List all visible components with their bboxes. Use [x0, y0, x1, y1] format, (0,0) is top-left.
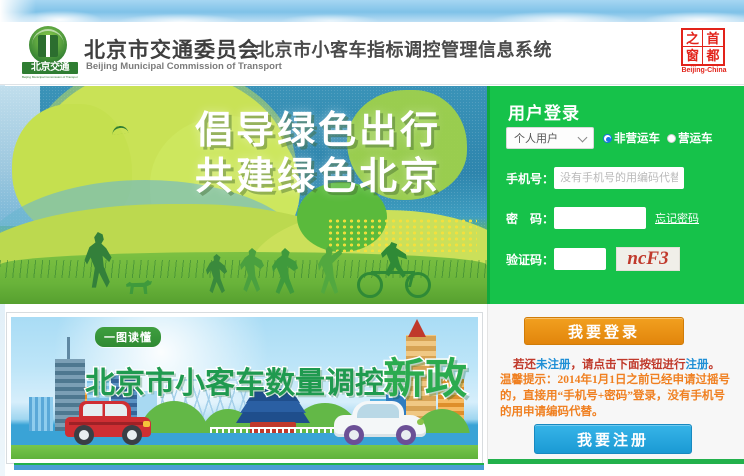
notice-middle: ，请点击下面按钮进行	[571, 359, 686, 371]
captcha-input[interactable]	[554, 248, 606, 270]
forgot-password-link[interactable]: 忘记密码	[655, 210, 699, 226]
radio-label-operating: 营运车	[678, 130, 713, 146]
red-car-headlight	[143, 421, 150, 427]
user-type-selected-value: 个人用户	[514, 130, 558, 146]
login-panel-title: 用户登录	[508, 99, 580, 124]
promo-grass-strip	[11, 445, 478, 459]
radio-dot-unselected	[667, 134, 676, 143]
sky-fade	[0, 0, 36, 22]
white-car-wheel-right	[396, 425, 416, 445]
sky-banner-decoration	[0, 0, 744, 22]
white-car-taillight	[417, 419, 424, 425]
registration-notice: 若还未注册，请点击下面按钮进行注册。	[488, 356, 744, 372]
logo-badge-label: 北京交通	[22, 62, 78, 74]
promo-title: 北京市小客车数量调控 新政	[85, 345, 467, 406]
gov-logo-grid: 之 首 窗 都	[681, 28, 725, 66]
vehicle-use-radio-group: 非营运车 营运车	[603, 130, 713, 146]
hero-banner[interactable]: 倡导绿色出行 共建绿色北京	[0, 86, 487, 304]
organization-name-en: Beijing Municipal Commission of Transpor…	[86, 61, 282, 72]
phone-label: 手机号：	[506, 170, 554, 187]
password-input[interactable]	[554, 207, 646, 229]
promo-badge: 一图读懂	[95, 327, 161, 347]
page-title: 北京市小客车指标调控管理信息系统	[256, 36, 552, 62]
radio-non-operating-vehicle[interactable]: 非营运车	[603, 130, 660, 146]
logo-badge-sublabel: Beijing Municipal Commission of Transpor…	[22, 75, 78, 79]
white-car-window	[357, 404, 399, 418]
gov-logo-cell-1: 之	[683, 30, 703, 47]
white-car-wheel-left	[344, 425, 364, 445]
promo-title-accent: 新政	[383, 345, 467, 406]
radio-operating-vehicle[interactable]: 营运车	[667, 130, 713, 146]
login-actions-panel: 我要登录 若还未注册，请点击下面按钮进行注册。 温馨提示：2014年1月1日之前…	[487, 304, 744, 464]
gov-logo-cell-2: 首	[703, 30, 723, 47]
cyclist-silhouette	[357, 240, 431, 298]
user-type-select[interactable]: 个人用户	[506, 127, 594, 149]
hero-slogan-line-2: 共建绿色北京	[195, 154, 441, 200]
radio-dot-selected	[603, 134, 612, 143]
password-label: 密 码：	[506, 210, 554, 227]
radio-label-non-operating: 非营运车	[614, 130, 660, 146]
transport-emblem-icon	[29, 26, 67, 64]
password-row: 密 码： 忘记密码	[490, 207, 744, 229]
login-panel: 用户登录 个人用户 非营运车 营运车 手机号： 密 码：	[487, 86, 744, 304]
phone-row: 手机号：	[490, 167, 744, 189]
beijing-china-gov-logo[interactable]: 之 首 窗 都 Beijing-China	[678, 28, 730, 78]
notice-suffix: 。	[709, 359, 721, 371]
building-1	[29, 397, 53, 431]
register-button[interactable]: 我要注册	[534, 424, 692, 454]
notice-prefix: 若还	[513, 359, 536, 371]
phone-input[interactable]	[554, 167, 684, 189]
transport-commission-logo[interactable]: 北京交通 Beijing Municipal Commission of Tra…	[22, 26, 78, 80]
footer-blue-bar	[14, 465, 484, 470]
hero-slogan: 倡导绿色出行 共建绿色北京	[195, 108, 441, 200]
notice-register-link[interactable]: 注册	[686, 359, 709, 371]
promo-banner[interactable]: 一图读懂 北京市小客车数量调控 新政	[6, 312, 483, 464]
gov-logo-caption: Beijing-China	[678, 67, 730, 74]
red-car-wheel-left	[74, 425, 94, 445]
page-root: 北京交通 Beijing Municipal Commission of Tra…	[0, 0, 744, 476]
building-antenna	[67, 337, 70, 359]
red-car-illustration	[65, 401, 151, 445]
hero-slogan-line-1: 倡导绿色出行	[195, 108, 441, 154]
organization-name-cn: 北京市交通委员会	[84, 34, 260, 64]
captcha-row: 验证码： ncF3	[490, 247, 744, 271]
chevron-down-icon	[578, 133, 588, 143]
tower-spire	[408, 319, 426, 337]
bicycle-frame	[367, 271, 415, 287]
notice-unregistered-link[interactable]: 未注册	[536, 359, 571, 371]
panel-footer-bar	[488, 459, 744, 464]
emblem-gate-glyph	[38, 35, 58, 57]
red-car-wheel-right	[122, 425, 142, 445]
warm-tip-text: 温馨提示：2014年1月1日之前已经申请过摇号的，直接用“手机号+密码”登录，没…	[500, 372, 734, 420]
login-button[interactable]: 我要登录	[524, 317, 684, 345]
gov-logo-cell-4: 都	[703, 47, 723, 64]
user-type-row: 个人用户 非营运车 营运车	[490, 127, 744, 149]
promo-title-main: 北京市小客车数量调控	[85, 358, 385, 402]
captcha-label: 验证码：	[506, 251, 554, 268]
captcha-image[interactable]: ncF3	[616, 247, 680, 271]
promo-banner-art: 一图读懂 北京市小客车数量调控 新政	[11, 317, 478, 459]
site-header: 北京交通 Beijing Municipal Commission of Tra…	[0, 22, 744, 85]
gov-logo-cell-3: 窗	[683, 47, 703, 64]
